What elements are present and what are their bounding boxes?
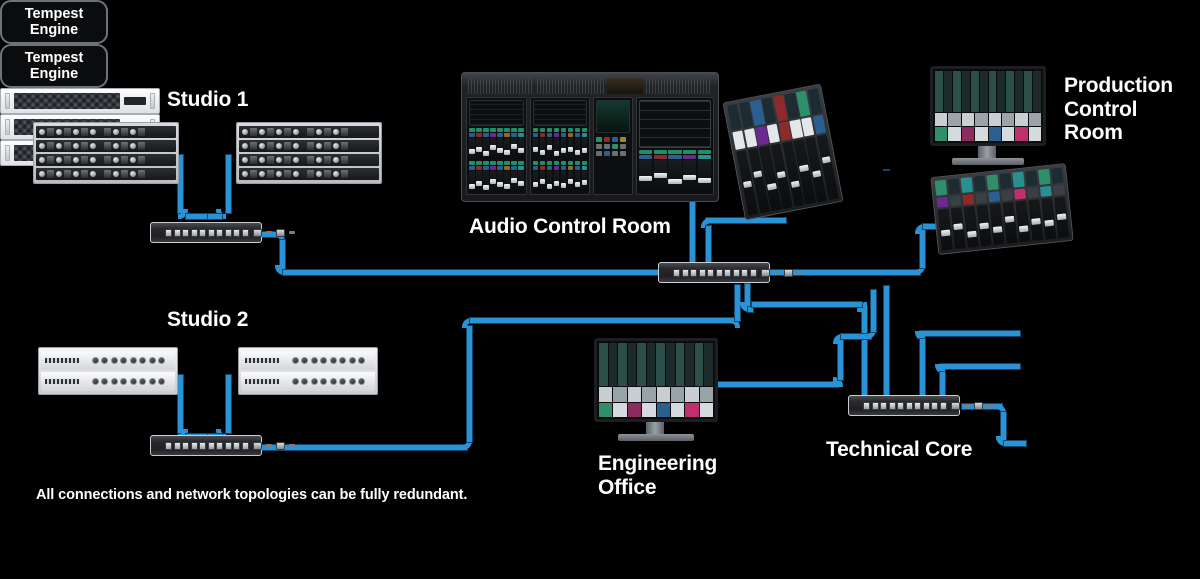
acr-sidecar-surface[interactable] <box>722 84 843 221</box>
studio2-switch[interactable] <box>150 435 262 456</box>
cable-eng-core-rise <box>871 290 876 332</box>
console-master-lcd <box>596 100 630 133</box>
rack-unit <box>36 126 176 138</box>
studio1-rack-b <box>236 122 382 184</box>
label-engineering-office: Engineering Office <box>598 452 717 499</box>
console-fader-strips-lower[interactable] <box>533 161 588 192</box>
eng-monitor[interactable] <box>594 338 718 444</box>
switch-ports <box>673 269 803 277</box>
rack-unit <box>41 372 175 391</box>
eng-line-2: Office <box>598 476 717 500</box>
rack-ear <box>5 145 10 162</box>
rack-unit <box>241 372 375 391</box>
tempest-engine-1[interactable]: Tempest Engine <box>0 0 108 44</box>
rack-ear <box>150 93 155 110</box>
console-bay-center[interactable] <box>530 97 591 195</box>
cable-s2-to-core <box>470 318 735 323</box>
studio2-rack-a <box>38 347 178 395</box>
cable-core-tc-h <box>752 302 862 307</box>
label-studio-1: Studio 1 <box>167 88 248 112</box>
pcr-control-surface[interactable] <box>930 163 1073 255</box>
cable-eng-up <box>838 340 843 380</box>
console-meter-bridge <box>468 78 712 94</box>
rack-unit <box>36 154 176 166</box>
cable-eng-h <box>718 382 838 387</box>
rack-unit <box>239 126 379 138</box>
console-fader-strips[interactable] <box>469 128 524 159</box>
tempest-2-line-1: Tempest <box>25 50 84 66</box>
pcr-line-1: Production <box>1064 74 1173 98</box>
studio2-rack-b <box>238 347 378 395</box>
cable-studio1-rackB-h <box>208 214 222 219</box>
network-topology-diagram: Studio 1 <box>0 0 1200 579</box>
pcr-line-2: Control <box>1064 98 1173 122</box>
switch-ports <box>863 402 993 410</box>
eng-line-1: Engineering <box>598 452 717 476</box>
cable-tc-srv-h2 <box>1004 441 1026 446</box>
label-production-control-room: Production Control Room <box>1064 74 1173 145</box>
label-technical-core: Technical Core <box>826 438 972 462</box>
rack-unit <box>36 168 176 180</box>
label-audio-control-room: Audio Control Room <box>469 215 671 239</box>
cable-studio1-rackB <box>226 155 231 213</box>
tempest-2-line-2: Engine <box>25 66 84 82</box>
switch-ports <box>165 442 295 450</box>
rack-unit <box>41 351 175 370</box>
white-server-1 <box>0 88 160 114</box>
cable-core-down-a-h <box>748 307 753 312</box>
cable-core-pcr-up <box>920 230 925 268</box>
cable-tc-tempest1 <box>920 331 1020 336</box>
rack-unit <box>239 154 379 166</box>
cable-tc-t1-v <box>920 339 925 399</box>
redundancy-caption: All connections and network topologies c… <box>36 487 467 503</box>
studio1-switch[interactable] <box>150 222 262 243</box>
rack-unit <box>239 168 379 180</box>
server-vent <box>14 93 120 109</box>
rack-ear <box>5 93 10 110</box>
monitor-stand-base <box>618 434 694 441</box>
cable-studio1-rackA-h <box>186 214 208 219</box>
cable-studio2-rackA <box>178 375 183 433</box>
console-fader-strips-right[interactable] <box>639 150 711 192</box>
monitor-stand-base <box>952 158 1024 165</box>
cable-s2-rise <box>467 326 472 442</box>
console-bay-master[interactable] <box>593 97 633 195</box>
core-switch[interactable] <box>658 262 770 283</box>
console-lcd <box>533 100 588 126</box>
rack-unit <box>36 140 176 152</box>
console-fader-strips[interactable] <box>533 128 588 159</box>
eng-mixer-gui <box>597 341 715 419</box>
tempest-1-line-1: Tempest <box>25 6 84 22</box>
eng-monitor-screen <box>594 338 718 422</box>
studio1-rack-a <box>33 122 179 184</box>
pcr-monitor-screen <box>930 66 1046 146</box>
tempest-engine-2[interactable]: Tempest Engine <box>0 44 108 88</box>
cable-console-down <box>690 200 695 267</box>
rack-unit <box>241 351 375 370</box>
cable-tc-tempest2 <box>940 364 1020 369</box>
console-lcd <box>469 100 524 126</box>
server-badge <box>124 97 146 105</box>
cable-core-to-tc <box>884 286 889 404</box>
cable-core-to-tc2 <box>862 307 867 404</box>
pcr-line-3: Room <box>1064 121 1173 145</box>
rack-ear <box>5 119 10 136</box>
console-fader-strips-lower[interactable] <box>469 161 524 192</box>
console-bay-left[interactable] <box>466 97 527 195</box>
switch-ports <box>165 229 295 237</box>
pcr-mixer-gui <box>933 69 1043 143</box>
console-bay-screen[interactable] <box>636 97 714 195</box>
technical-core-switch[interactable] <box>848 395 960 416</box>
rack-unit <box>239 140 379 152</box>
acr-mixing-console[interactable] <box>461 72 719 202</box>
cable-studio2-rackB <box>226 375 231 433</box>
console-large-display <box>639 100 711 148</box>
cable-s1-to-core <box>283 270 663 275</box>
tempest-1-line-2: Engine <box>25 22 84 38</box>
pcr-monitor[interactable] <box>930 66 1046 166</box>
label-studio-2: Studio 2 <box>167 308 248 332</box>
